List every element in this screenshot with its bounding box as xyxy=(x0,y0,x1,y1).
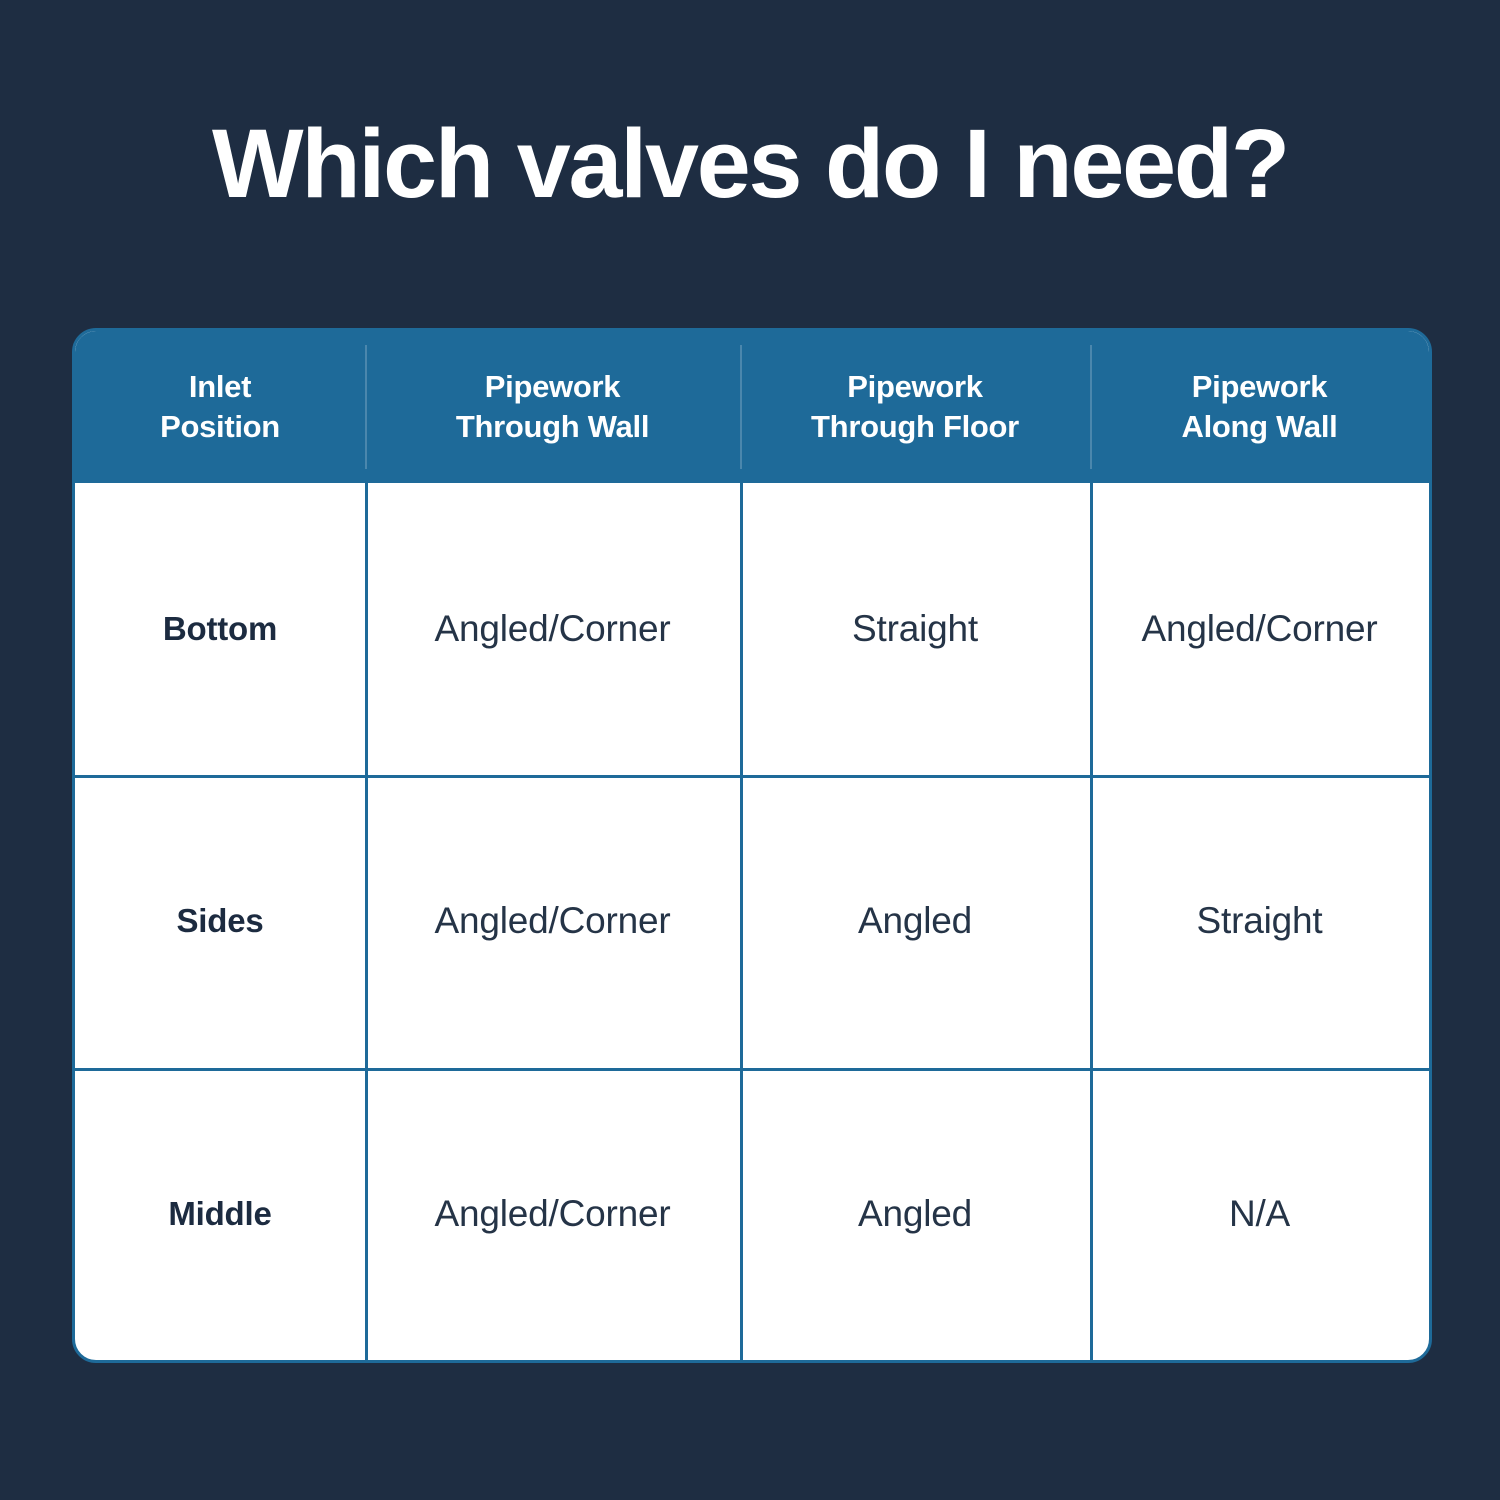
column-header-pipework-through-wall: Pipework Through Wall xyxy=(365,331,740,483)
column-header-line2: Along Wall xyxy=(1182,407,1338,447)
column-header-pipework-through-floor: Pipework Through Floor xyxy=(740,331,1090,483)
row-label-sides: Sides xyxy=(75,775,365,1067)
column-header-inlet-position: Inlet Position xyxy=(75,331,365,483)
table-row: Middle Angled/Corner Angled N/A xyxy=(75,1068,1429,1360)
column-header-pipework-along-wall: Pipework Along Wall xyxy=(1090,331,1429,483)
cell-sides-through-wall: Angled/Corner xyxy=(365,775,740,1067)
valve-selection-table-card: Inlet Position Pipework Through Wall Pip… xyxy=(72,328,1432,1363)
table-header-row: Inlet Position Pipework Through Wall Pip… xyxy=(75,331,1429,483)
column-header-line2: Through Wall xyxy=(456,407,649,447)
column-header-line2: Position xyxy=(160,407,280,447)
cell-bottom-along-wall: Angled/Corner xyxy=(1090,483,1429,775)
infographic-page: Which valves do I need? Inlet Position P… xyxy=(0,0,1500,1500)
cell-middle-along-wall: N/A xyxy=(1090,1068,1429,1360)
cell-bottom-through-floor: Straight xyxy=(740,483,1090,775)
column-header-line1: Pipework xyxy=(456,367,649,407)
column-header-line1: Pipework xyxy=(811,367,1019,407)
row-label-middle: Middle xyxy=(75,1068,365,1360)
page-title: Which valves do I need? xyxy=(0,113,1500,215)
table-row: Bottom Angled/Corner Straight Angled/Cor… xyxy=(75,483,1429,775)
cell-middle-through-floor: Angled xyxy=(740,1068,1090,1360)
row-label-bottom: Bottom xyxy=(75,483,365,775)
table-body: Bottom Angled/Corner Straight Angled/Cor… xyxy=(75,483,1429,1360)
cell-sides-along-wall: Straight xyxy=(1090,775,1429,1067)
cell-sides-through-floor: Angled xyxy=(740,775,1090,1067)
cell-middle-through-wall: Angled/Corner xyxy=(365,1068,740,1360)
valve-selection-table: Inlet Position Pipework Through Wall Pip… xyxy=(75,331,1429,1360)
cell-bottom-through-wall: Angled/Corner xyxy=(365,483,740,775)
column-header-line1: Inlet xyxy=(160,367,280,407)
column-header-line2: Through Floor xyxy=(811,407,1019,447)
table-row: Sides Angled/Corner Angled Straight xyxy=(75,775,1429,1067)
column-header-line1: Pipework xyxy=(1182,367,1338,407)
